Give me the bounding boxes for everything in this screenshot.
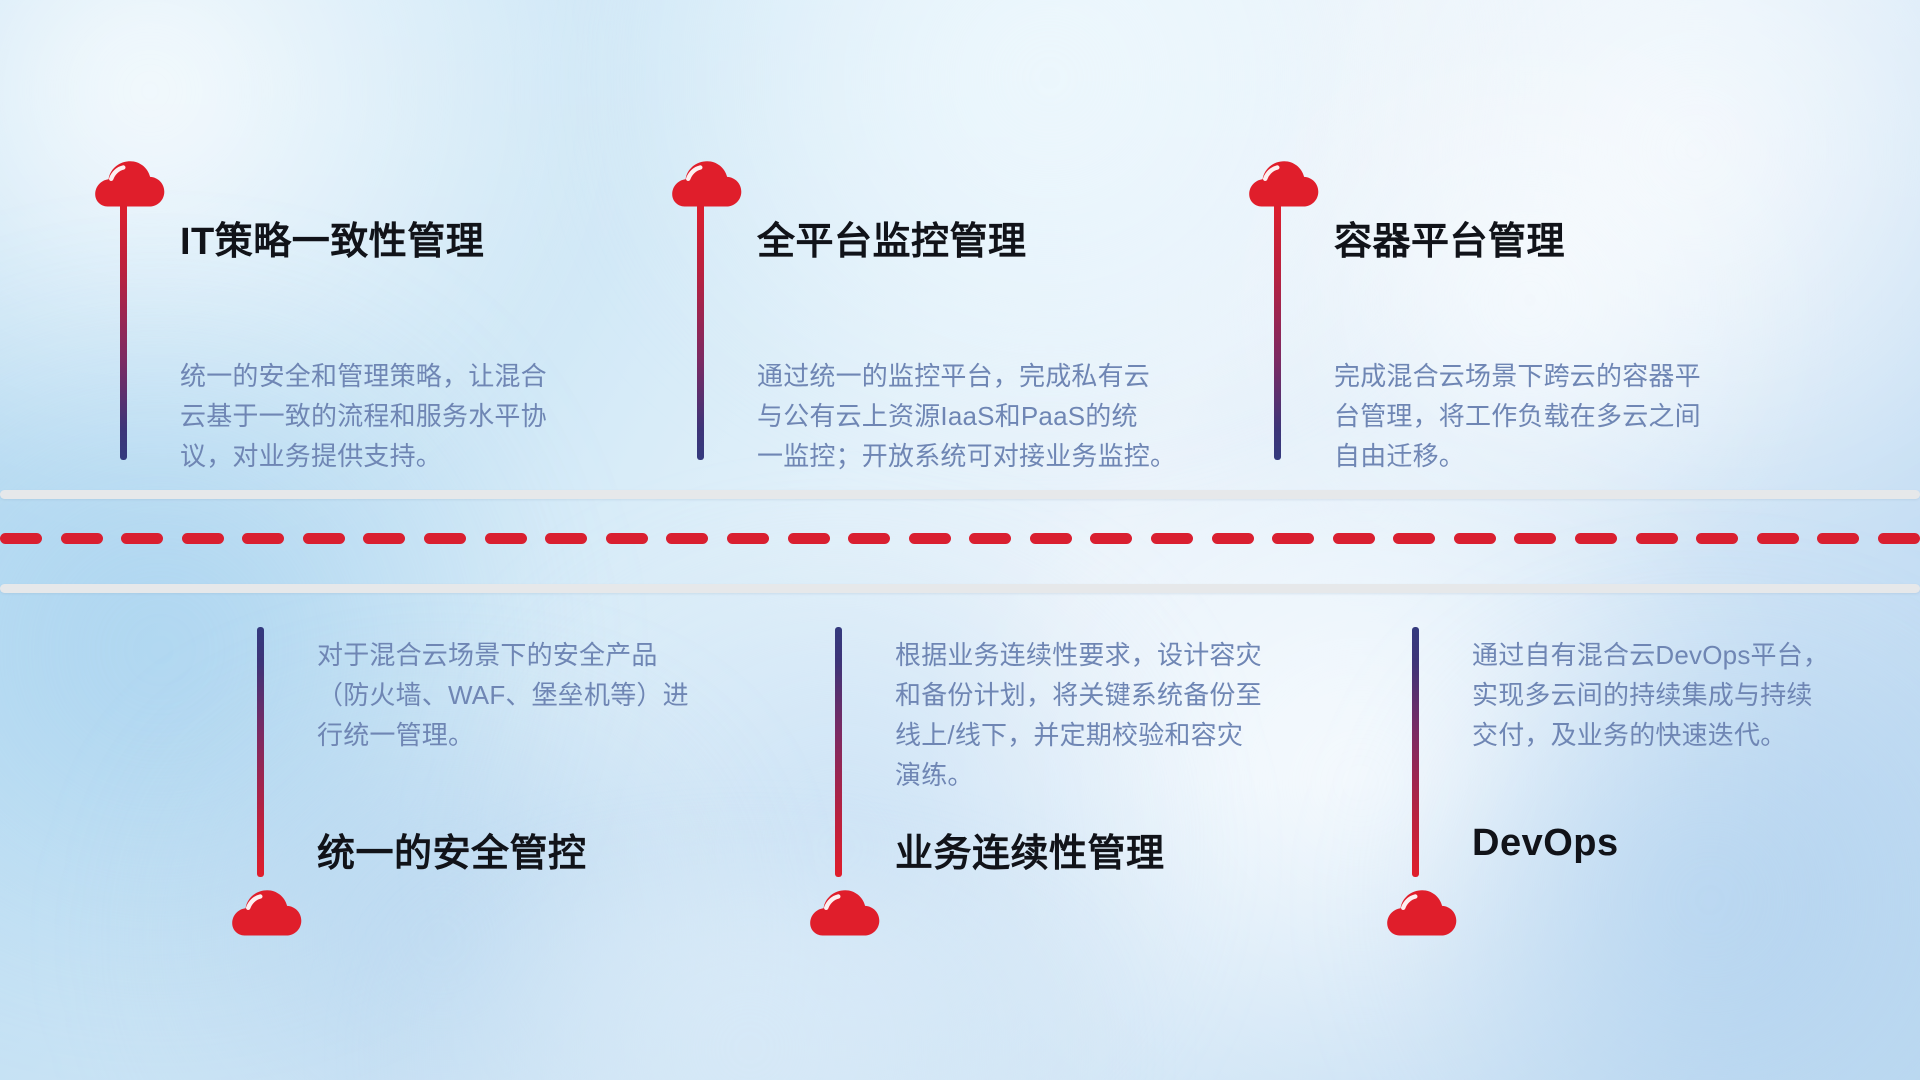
top-item-1-description: 统一的安全和管理策略，让混合 云基于一致的流程和服务水平协 议，对业务提供支持。 — [180, 356, 610, 476]
timeline-stem — [120, 200, 127, 460]
timeline-stem — [257, 627, 264, 877]
cloud-icon — [232, 890, 302, 938]
dash-segment — [788, 533, 830, 544]
top-item-2-description: 通过统一的监控平台，完成私有云 与公有云上资源IaaS和PaaS的统 一监控；开… — [757, 356, 1217, 476]
timeline-stem — [835, 627, 842, 877]
dash-segment — [1696, 533, 1738, 544]
dash-segment — [485, 533, 527, 544]
dash-segment — [1090, 533, 1132, 544]
dash-segment — [1878, 533, 1920, 544]
top-item-3-description: 完成混合云场景下跨云的容器平 台管理，将工作负载在多云之间 自由迁移。 — [1334, 356, 1774, 476]
timeline-stem — [1412, 627, 1419, 877]
dash-segment — [545, 533, 587, 544]
divider-rail-bottom — [0, 584, 1920, 593]
dash-segment — [1575, 533, 1617, 544]
dash-segment — [242, 533, 284, 544]
bottom-item-1-description: 对于混合云场景下的安全产品 （防火墙、WAF、堡垒机等）进 行统一管理。 — [317, 635, 747, 755]
dash-segment — [969, 533, 1011, 544]
dash-segment — [1333, 533, 1375, 544]
dash-segment — [1030, 533, 1072, 544]
dash-segment — [1514, 533, 1556, 544]
dash-segment — [303, 533, 345, 544]
dash-segment — [61, 533, 103, 544]
cloud-icon — [810, 890, 880, 938]
dash-segment — [909, 533, 951, 544]
infographic-stage: IT策略一致性管理 统一的安全和管理策略，让混合 云基于一致的流程和服务水平协 … — [0, 0, 1920, 1080]
dash-segment — [363, 533, 405, 544]
timeline-stem — [1274, 200, 1281, 460]
top-item-2-title: 全平台监控管理 — [757, 210, 1027, 265]
dash-segment — [1151, 533, 1193, 544]
dashed-line — [0, 532, 1920, 544]
dash-segment — [1757, 533, 1799, 544]
dash-segment — [727, 533, 769, 544]
dash-segment — [848, 533, 890, 544]
dash-segment — [606, 533, 648, 544]
dash-segment — [121, 533, 163, 544]
dash-segment — [182, 533, 224, 544]
cloud-icon — [1249, 161, 1319, 209]
cloud-icon — [1387, 890, 1457, 938]
cloud-icon — [672, 161, 742, 209]
divider-rail-top — [0, 490, 1920, 499]
dash-segment — [0, 533, 42, 544]
dash-segment — [424, 533, 466, 544]
dash-segment — [1454, 533, 1496, 544]
bottom-item-3-description: 通过自有混合云DevOps平台， 实现多云间的持续集成与持续 交付，及业务的快速… — [1472, 635, 1902, 755]
dash-segment — [666, 533, 708, 544]
top-item-3-title: 容器平台管理 — [1334, 210, 1565, 265]
dash-segment — [1817, 533, 1859, 544]
top-item-1-title: IT策略一致性管理 — [180, 210, 484, 265]
bottom-item-2-description: 根据业务连续性要求，设计容灾 和备份计划，将关键系统备份至 线上/线下，并定期校… — [895, 635, 1325, 795]
dash-segment — [1393, 533, 1435, 544]
dash-segment — [1272, 533, 1314, 544]
bottom-item-1-title: 统一的安全管控 — [317, 822, 587, 877]
dash-segment — [1636, 533, 1678, 544]
bottom-item-3-title: DevOps — [1472, 822, 1619, 865]
timeline-stem — [697, 200, 704, 460]
cloud-icon — [95, 161, 165, 209]
dash-segment — [1212, 533, 1254, 544]
bottom-item-2-title: 业务连续性管理 — [895, 822, 1165, 877]
